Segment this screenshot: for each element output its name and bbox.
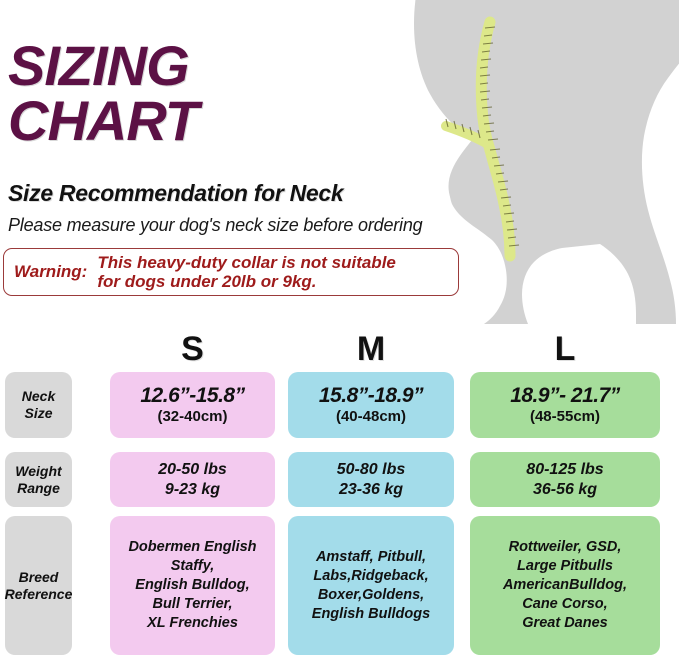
breed-line: Bull Terrier, — [152, 595, 232, 614]
warning-line-2: for dogs under 20lb or 9kg. — [97, 272, 396, 291]
neck-size-medium-inches: 15.8”-18.9” — [319, 384, 423, 408]
size-header-s: S — [110, 330, 275, 369]
warning-label: Warning: — [4, 262, 87, 282]
breed-line: AmericanBulldog, — [503, 576, 627, 595]
neck-size-medium: 15.8”-18.9” (40-48cm) — [288, 372, 454, 438]
weight-range-small: 20-50 lbs 9-23 kg — [110, 452, 275, 507]
warning-message: This heavy-duty collar is not suitable f… — [87, 253, 396, 291]
size-header-l: L — [470, 330, 660, 369]
measuring-tape — [446, 22, 519, 256]
instruction-text: Please measure your dog's neck size befo… — [8, 215, 422, 236]
weight-range-large-lbs: 80-125 lbs — [526, 460, 603, 480]
breed-line: Amstaff, Pitbull, — [316, 548, 426, 567]
weight-range-medium-lbs: 50-80 lbs — [337, 460, 405, 480]
neck-size-large-cm: (48-55cm) — [530, 408, 600, 426]
breed-line: Boxer,Goldens, — [318, 586, 424, 605]
breed-reference-small: Dobermen English Staffy, English Bulldog… — [110, 516, 275, 655]
breed-line: English Bulldog, — [135, 576, 249, 595]
table-row: Neck Size 12.6”-15.8” (32-40cm) 15.8”-18… — [0, 370, 679, 438]
table-header-row: S M L — [0, 330, 679, 370]
neck-size-small-cm: (32-40cm) — [157, 408, 227, 426]
row-label-line-2: Size — [24, 405, 52, 422]
weight-range-medium-kg: 23-36 kg — [339, 480, 403, 500]
subtitle: Size Recommendation for Neck — [8, 180, 343, 207]
weight-range-small-lbs: 20-50 lbs — [158, 460, 226, 480]
neck-size-large: 18.9”- 21.7” (48-55cm) — [470, 372, 660, 438]
neck-size-large-inches: 18.9”- 21.7” — [510, 384, 620, 408]
weight-range-small-kg: 9-23 kg — [165, 480, 220, 500]
breed-line: Great Danes — [522, 614, 607, 633]
neck-size-small-inches: 12.6”-15.8” — [140, 384, 244, 408]
size-table: S M L Neck Size 12.6”-15.8” (32-40cm) 15… — [0, 330, 679, 661]
sizing-chart-page: SIZING CHART Size Recommendation for Nec… — [0, 0, 679, 672]
row-label-line-1: Weight — [15, 463, 61, 480]
neck-size-medium-cm: (40-48cm) — [336, 408, 406, 426]
breed-line: Labs,Ridgeback, — [313, 567, 428, 586]
title-line-2: CHART — [8, 93, 428, 148]
row-label-line-2: Range — [17, 480, 60, 497]
breed-line: Dobermen English — [128, 538, 256, 557]
breed-line: Cane Corso, — [522, 595, 607, 614]
neck-size-small: 12.6”-15.8” (32-40cm) — [110, 372, 275, 438]
page-title: SIZING CHART — [8, 38, 428, 148]
row-label-breed-reference: Breed Reference — [5, 516, 72, 655]
weight-range-medium: 50-80 lbs 23-36 kg — [288, 452, 454, 507]
table-row: Breed Reference Dobermen English Staffy,… — [0, 516, 679, 661]
title-line-1: SIZING — [8, 38, 428, 93]
weight-range-large-kg: 36-56 kg — [533, 480, 597, 500]
breed-reference-medium: Amstaff, Pitbull, Labs,Ridgeback, Boxer,… — [288, 516, 454, 655]
row-label-line-2: Reference — [5, 586, 73, 603]
row-label-line-1: Breed — [19, 569, 59, 586]
breed-reference-large: Rottweiler, GSD, Large Pitbulls American… — [470, 516, 660, 655]
row-label-neck-size: Neck Size — [5, 372, 72, 438]
size-header-m: M — [288, 330, 454, 369]
warning-box: Warning: This heavy-duty collar is not s… — [3, 248, 459, 296]
breed-line: Staffy, — [171, 557, 215, 576]
row-label-weight-range: Weight Range — [5, 452, 72, 507]
warning-line-1: This heavy-duty collar is not suitable — [97, 253, 396, 272]
weight-range-large: 80-125 lbs 36-56 kg — [470, 452, 660, 507]
breed-line: English Bulldogs — [312, 605, 430, 624]
breed-line: XL Frenchies — [147, 614, 238, 633]
breed-line: Rottweiler, GSD, — [509, 538, 622, 557]
table-row: Weight Range 20-50 lbs 9-23 kg 50-80 lbs… — [0, 438, 679, 516]
row-label-line-1: Neck — [22, 388, 55, 405]
breed-line: Large Pitbulls — [517, 557, 613, 576]
